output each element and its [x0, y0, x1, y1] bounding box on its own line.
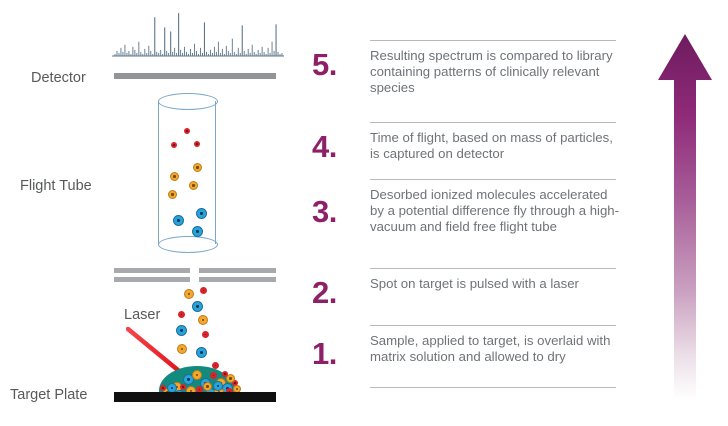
particle-red	[202, 331, 209, 338]
step-divider	[370, 268, 616, 269]
step-divider	[370, 122, 616, 123]
step-number: 2.	[312, 277, 364, 308]
step-divider-bottom	[370, 387, 616, 388]
step-text: Sample, applied to target, is overlaid w…	[370, 333, 620, 365]
grid-plate-lower-right	[199, 277, 276, 282]
grid-plate-upper-left	[114, 268, 190, 273]
step-number: 1.	[312, 338, 364, 369]
particle-red	[200, 287, 207, 294]
label-target-plate: Target Plate	[10, 388, 87, 403]
detector-bar	[114, 73, 276, 79]
flight-tube-cylinder	[158, 93, 218, 260]
mass-spectrum-trace	[112, 4, 284, 58]
grid-plate-upper-right	[199, 268, 276, 273]
particle-red	[178, 311, 185, 318]
label-detector: Detector	[31, 71, 86, 86]
step-number: 3.	[312, 196, 364, 227]
tube-bottom-ellipse	[158, 236, 218, 253]
step-text: Desorbed ionized molecules accelerated b…	[370, 187, 620, 236]
particle-orange	[184, 289, 194, 299]
step-text: Resulting spectrum is compared to librar…	[370, 48, 620, 97]
grid-plate-lower-left	[114, 277, 190, 282]
label-laser: Laser	[124, 308, 160, 323]
step-divider	[370, 40, 616, 41]
particle-blue	[196, 347, 207, 358]
particle-blue	[192, 301, 203, 312]
step-text: Time of flight, based on mass of particl…	[370, 130, 620, 162]
step-divider	[370, 325, 616, 326]
tube-body	[158, 101, 216, 244]
step-number: 5.	[312, 49, 364, 80]
upward-process-arrow-icon	[655, 32, 715, 402]
step-number: 4.	[312, 131, 364, 162]
particle-orange	[198, 315, 208, 325]
step-divider	[370, 179, 616, 180]
label-flight-tube: Flight Tube	[20, 179, 92, 194]
diagram-canvas: Detector Flight Tube Laser	[0, 0, 728, 426]
steps-panel: 5. Resulting spectrum is compared to lib…	[312, 0, 632, 426]
step-text: Spot on target is pulsed with a laser	[370, 276, 620, 292]
target-plate-bar	[114, 392, 276, 402]
